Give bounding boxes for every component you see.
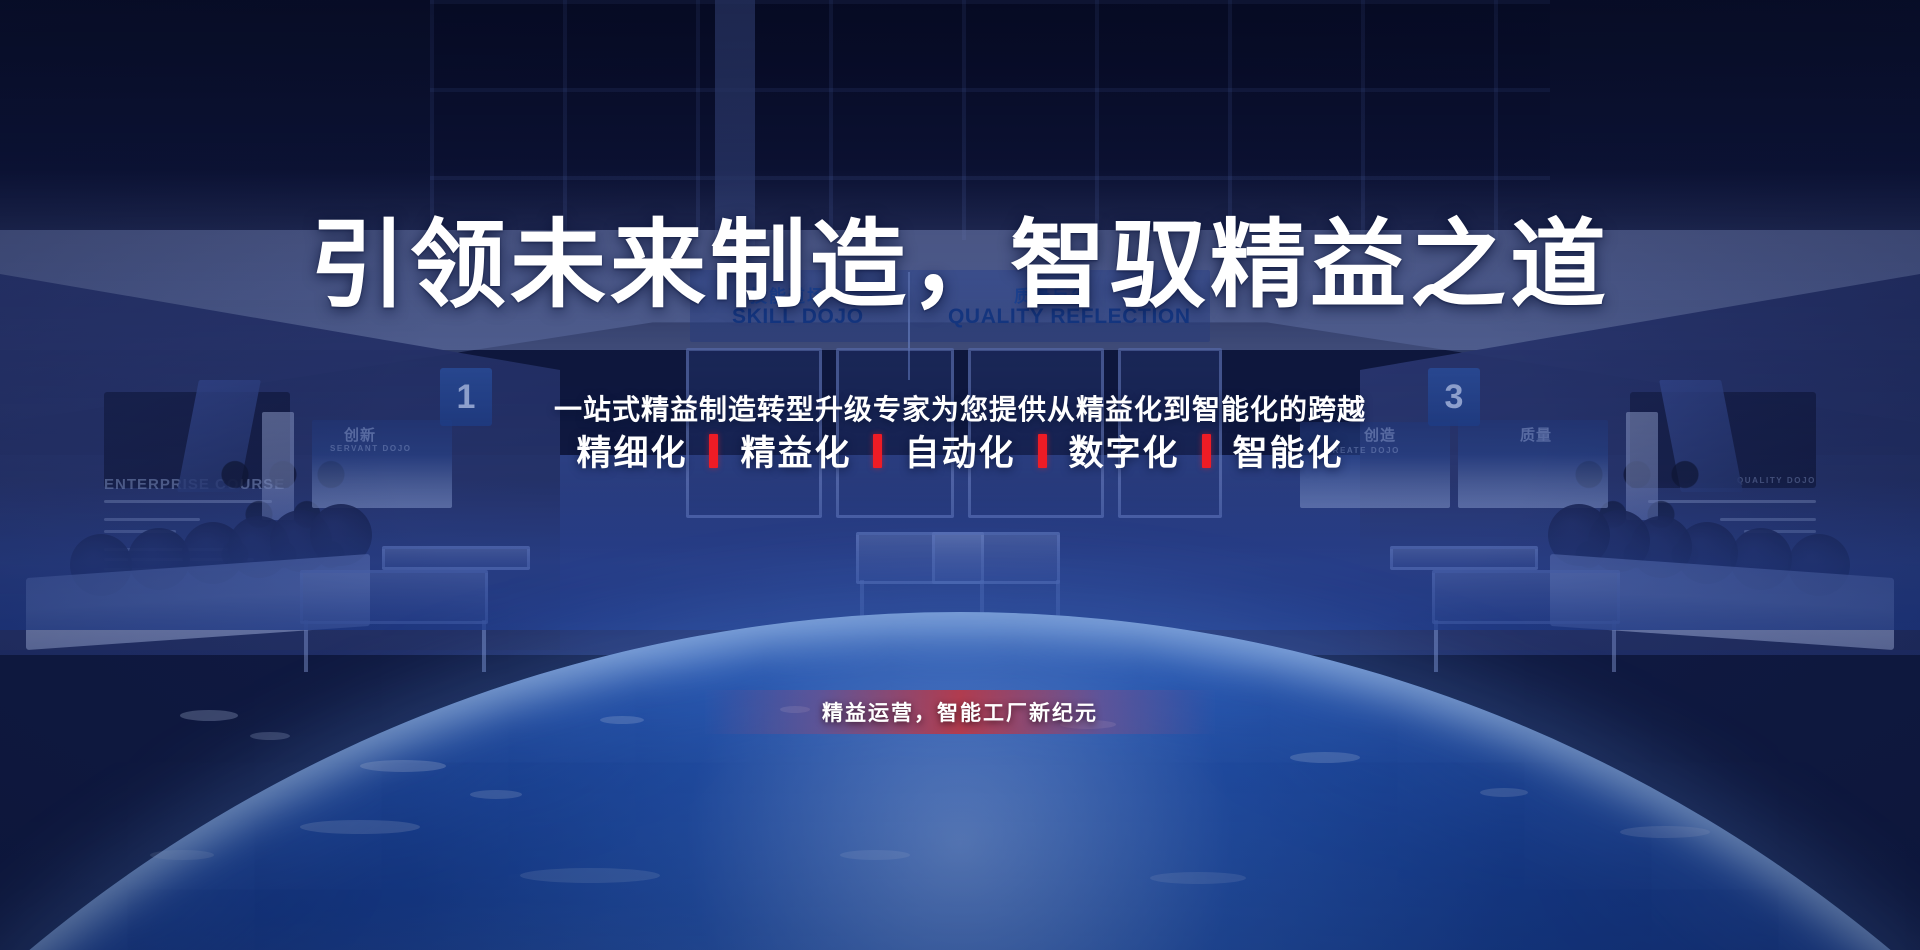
keyword-separator-icon [873,434,882,468]
keyword-list: 精细化 精益化 自动化 数字化 智能化 [0,425,1920,476]
keyword-separator-icon [1202,434,1211,468]
keyword-item: 自动化 [904,425,1015,476]
hero-subtitle: 一站式精益制造转型升级专家为您提供从精益化到智能化的跨越 [0,388,1920,428]
keyword-separator-icon [709,434,718,468]
hero-content: 引领未来制造，智驭精益之道 一站式精益制造转型升级专家为您提供从精益化到智能化的… [0,0,1920,950]
keyword-item: 智能化 [1233,425,1344,476]
page-title: 引领未来制造，智驭精益之道 [0,216,1920,317]
keyword-item: 精益化 [740,425,851,476]
keyword-item: 精细化 [576,425,687,476]
keyword-item: 数字化 [1069,425,1180,476]
tagline-badge: 精益运营，智能工厂新纪元 [705,690,1215,734]
keyword-separator-icon [1038,434,1047,468]
tagline-badge-text: 精益运营，智能工厂新纪元 [822,697,1098,727]
hero-banner: ENTERPRISE COURSE 创新 SERVANT DOJO QUALIT… [0,0,1920,950]
